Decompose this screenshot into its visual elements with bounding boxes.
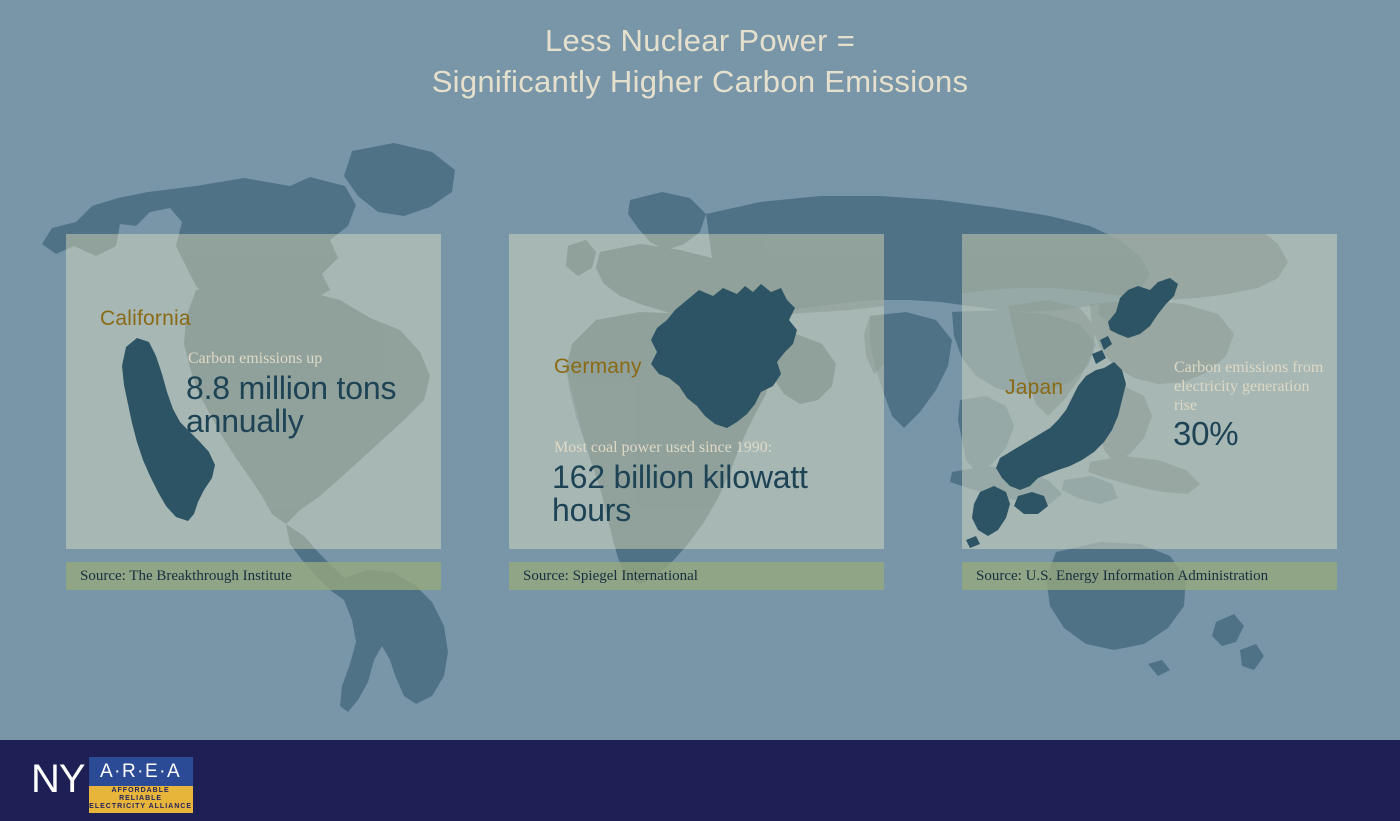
region-label-japan: Japan	[1005, 376, 1063, 400]
stat-value-germany: 162 billion kilowatt hours	[552, 461, 852, 527]
region-label-germany: Germany	[554, 355, 642, 379]
infographic-canvas: Less Nuclear Power = Significantly Highe…	[0, 0, 1400, 821]
stat-caption-california: Carbon emissions up	[188, 349, 322, 368]
source-germany: Source: Spiegel International	[509, 562, 884, 590]
stat-value-japan: 30%	[1173, 417, 1238, 451]
footer-bar	[0, 740, 1400, 821]
logo-area-box: A·R·E·A AFFORDABLE RELIABLE ELECTRICITY …	[89, 757, 193, 802]
stat-value-california: 8.8 million tons annually	[186, 372, 436, 438]
logo-area-text: A·R·E·A	[89, 757, 193, 786]
source-japan: Source: U.S. Energy Information Administ…	[962, 562, 1337, 590]
stat-caption-japan: Carbon emissions from electricity genera…	[1174, 358, 1334, 415]
ny-area-logo[interactable]: NY A·R·E·A AFFORDABLE RELIABLE ELECTRICI…	[31, 757, 193, 802]
region-label-california: California	[100, 307, 191, 331]
page-title: Less Nuclear Power = Significantly Highe…	[0, 20, 1400, 102]
logo-ny-text: NY	[31, 757, 89, 802]
logo-tagline: AFFORDABLE RELIABLE ELECTRICITY ALLIANCE	[89, 786, 193, 813]
source-california: Source: The Breakthrough Institute	[66, 562, 441, 590]
stat-caption-germany: Most coal power used since 1990:	[554, 438, 772, 457]
